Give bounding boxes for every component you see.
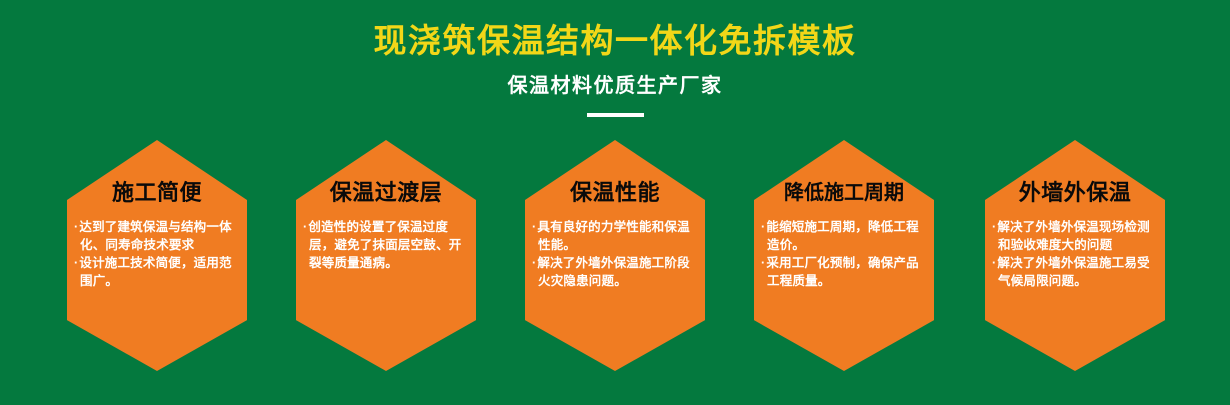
- feature-title-2: 保温过渡层: [296, 178, 476, 208]
- page-subtitle: 保温材料优质生产厂家: [0, 72, 1230, 100]
- feature-bullet: 解决了外墙外保温现场检测和验收难度大的问题: [992, 218, 1158, 254]
- feature-title-5: 外墙外保温: [985, 178, 1165, 208]
- feature-bullets-1: 达到了建筑保温与结构一体化、同寿命技术要求 设计施工技术简便，适用范围广。: [74, 218, 240, 290]
- feature-hexagon-2[interactable]: 保温过渡层 创造性的设置了保温过度层，避免了抹面层空鼓、开裂等质量通病。: [296, 140, 476, 371]
- feature-hexagon-3[interactable]: 保温性能 具有良好的力学性能和保温性能。 解决了外墙外保温施工阶段火灾隐患问题。: [525, 140, 705, 371]
- banner-header: 现浇筑保温结构一体化免拆模板 保温材料优质生产厂家: [0, 0, 1230, 130]
- feature-title-3: 保温性能: [525, 178, 705, 208]
- feature-bullet: 具有良好的力学性能和保温性能。: [532, 218, 698, 254]
- feature-bullet: 解决了外墙外保温施工易受气候局限问题。: [992, 254, 1158, 290]
- feature-title-4: 降低施工周期: [754, 178, 934, 208]
- title-underline-divider: [587, 113, 644, 117]
- feature-bullet: 采用工厂化预制，确保产品工程质量。: [761, 254, 927, 290]
- page-title: 现浇筑保温结构一体化免拆模板: [0, 20, 1230, 62]
- feature-hexagon-5[interactable]: 外墙外保温 解决了外墙外保温现场检测和验收难度大的问题 解决了外墙外保温施工易受…: [985, 140, 1165, 371]
- feature-hexagon-4[interactable]: 降低施工周期 能缩短施工周期，降低工程造价。 采用工厂化预制，确保产品工程质量。: [754, 140, 934, 371]
- promo-banner: 现浇筑保温结构一体化免拆模板 保温材料优质生产厂家 施工简便 达到了建筑保温与结…: [0, 0, 1230, 405]
- feature-title-1: 施工简便: [67, 178, 247, 208]
- feature-bullet: 创造性的设置了保温过度层，避免了抹面层空鼓、开裂等质量通病。: [303, 218, 469, 272]
- feature-bullets-4: 能缩短施工周期，降低工程造价。 采用工厂化预制，确保产品工程质量。: [761, 218, 927, 290]
- feature-bullet: 能缩短施工周期，降低工程造价。: [761, 218, 927, 254]
- feature-bullets-3: 具有良好的力学性能和保温性能。 解决了外墙外保温施工阶段火灾隐患问题。: [532, 218, 698, 290]
- feature-bullet: 达到了建筑保温与结构一体化、同寿命技术要求: [74, 218, 240, 254]
- feature-bullets-5: 解决了外墙外保温现场检测和验收难度大的问题 解决了外墙外保温施工易受气候局限问题…: [992, 218, 1158, 290]
- feature-bullets-2: 创造性的设置了保温过度层，避免了抹面层空鼓、开裂等质量通病。: [303, 218, 469, 272]
- feature-bullet: 解决了外墙外保温施工阶段火灾隐患问题。: [532, 254, 698, 290]
- feature-bullet: 设计施工技术简便，适用范围广。: [74, 254, 240, 290]
- feature-hexagon-1[interactable]: 施工简便 达到了建筑保温与结构一体化、同寿命技术要求 设计施工技术简便，适用范围…: [67, 140, 247, 371]
